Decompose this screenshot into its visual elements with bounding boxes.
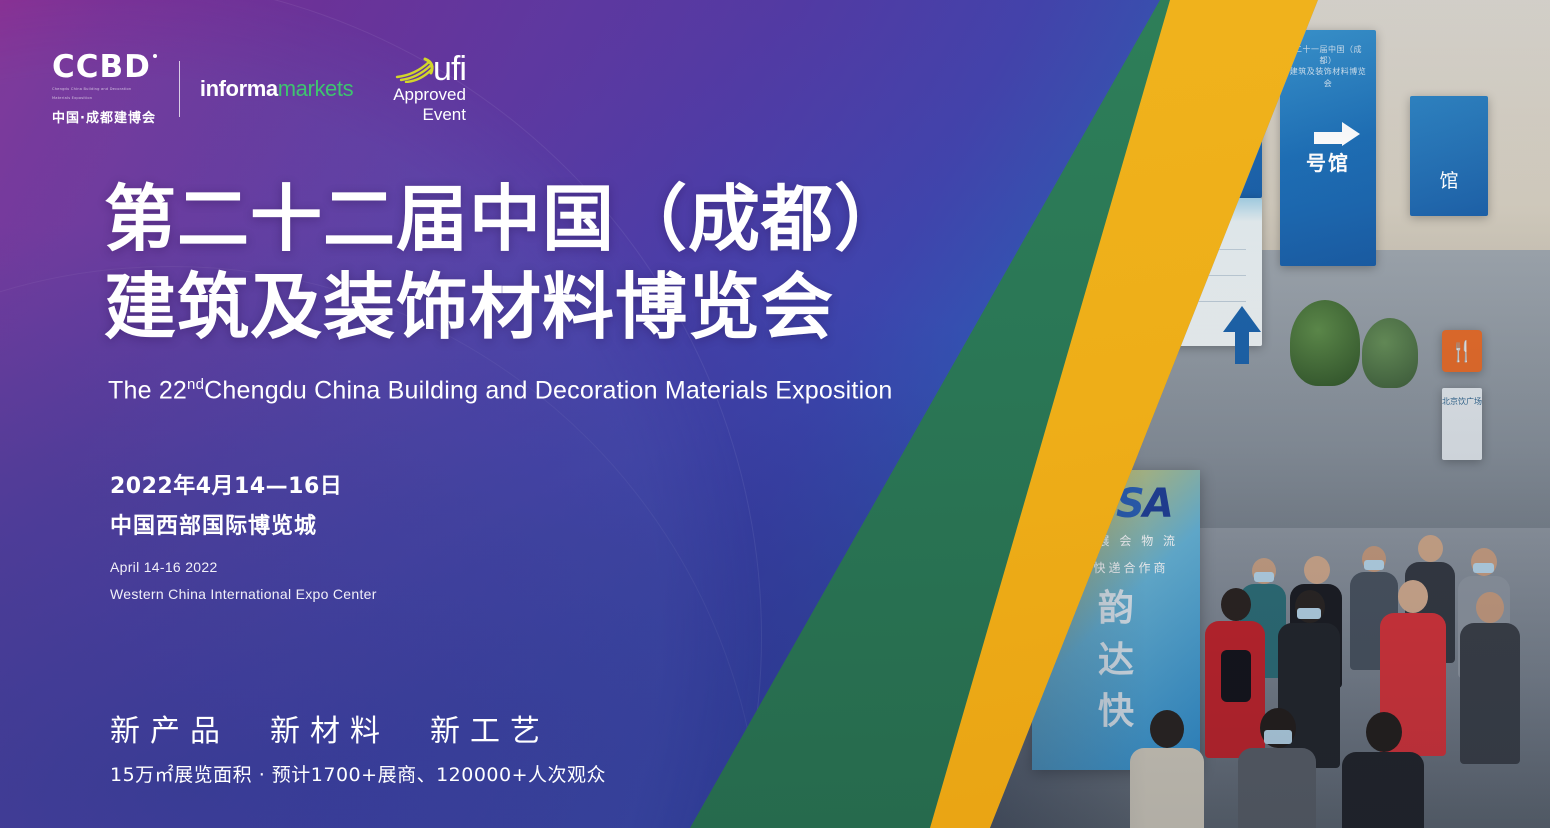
event-venue-en: Western China International Expo Center	[110, 581, 377, 608]
markets-word: markets	[278, 76, 353, 101]
ufi-swoosh-icon	[395, 57, 437, 83]
ufi-wordmark: ufi	[433, 54, 466, 85]
poster-root: 门业及 智能家居馆 门窗馆 门窗配套展区 门窗馆 二十一届中国（成都） 建筑及装…	[0, 0, 1550, 828]
registered-dot-icon	[153, 54, 157, 58]
ccbd-wordmark-row: CCBD	[52, 52, 157, 83]
ccbd-micro-line1: Chengdu China Building and Decoration	[52, 87, 131, 92]
tagline-stats: 15万㎡展览面积 · 预计1700+展商、120000+人次观众	[110, 760, 606, 787]
tagline-block: 新产品 新材料 新工艺 15万㎡展览面积 · 预计1700+展商、120000+…	[110, 706, 606, 787]
subtitle-prefix: The 22	[108, 376, 187, 404]
ufi-event-label: Event	[422, 105, 465, 124]
ccbd-chinese-name: 中国·成都建博会	[52, 107, 156, 126]
informa-markets-logo[interactable]: informamarkets	[200, 76, 353, 102]
headline-line-1: 第二十二届中国（成都）	[104, 176, 907, 264]
ccbd-wordmark: CCBD	[52, 52, 151, 83]
event-date-en: April 14-16 2022	[110, 554, 377, 581]
subtitle-ordinal: nd	[187, 376, 204, 393]
ufi-approved-label: Approved	[393, 85, 466, 104]
tagline-keywords: 新产品 新材料 新工艺	[110, 706, 606, 750]
event-details: 2022年4月14—16日 中国西部国际博览城 April 14-16 2022…	[110, 468, 377, 607]
subtitle-rest: Chengdu China Building and Decoration Ma…	[204, 376, 892, 404]
subtitle-english: The 22ndChengdu China Building and Decor…	[108, 376, 893, 405]
ufi-approved-event-logo[interactable]: ufi Approved Event	[393, 54, 466, 123]
ccbd-micro-line2: Materials Exposition	[52, 96, 92, 101]
headline-line-2: 建筑及装饰材料博览会	[104, 264, 907, 352]
logo-divider	[179, 61, 180, 117]
ufi-top-row: ufi	[395, 54, 466, 85]
page-title: 第二十二届中国（成都） 建筑及装饰材料博览会	[104, 176, 907, 352]
informa-word: informa	[200, 76, 278, 101]
ccbd-logo[interactable]: CCBD Chengdu China Building and Decorati…	[52, 52, 157, 126]
poster-content: CCBD Chengdu China Building and Decorati…	[0, 0, 1550, 828]
event-venue-cn: 中国西部国际博览城	[110, 508, 377, 540]
event-date-cn: 2022年4月14—16日	[110, 468, 377, 500]
logo-row: CCBD Chengdu China Building and Decorati…	[52, 52, 466, 126]
